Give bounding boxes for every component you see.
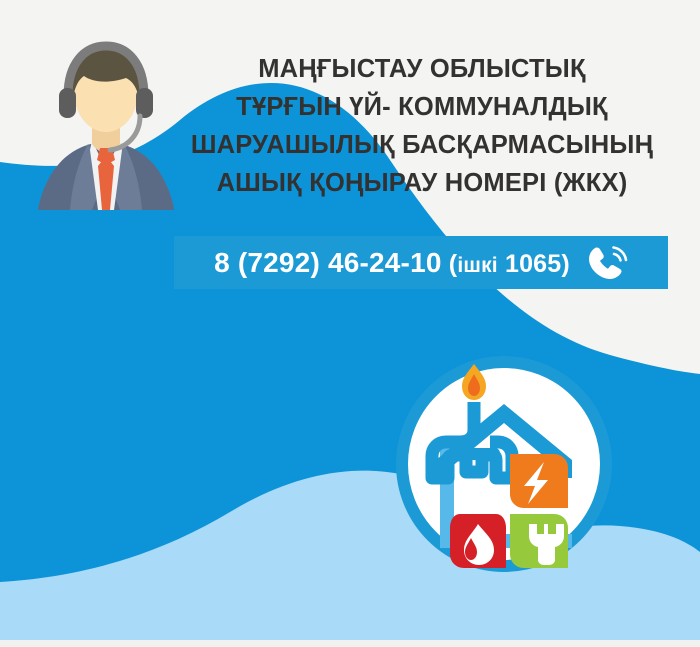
- bottom-edge-strip: [0, 640, 700, 647]
- phone-ext-paren-close: ): [561, 250, 570, 278]
- poster-canvas: МАҢҒЫСТАУ ОБЛЫСТЫҚ ТҰРҒЫН ҮЙ- КОММУНАЛДЫ…: [0, 0, 700, 647]
- phone-number-text: 8 (7292) 46-24-10 (ішкі 1065): [214, 247, 570, 279]
- avatar-headset-cup-right: [136, 88, 153, 118]
- avatar-headset-cup-left: [59, 88, 76, 118]
- headline-line-4: АШЫҚ ҚОҢЫРАУ НОМЕРІ (ЖКХ): [172, 164, 672, 202]
- phone-ext-number: 1065: [505, 250, 561, 278]
- headline-line-2: ТҰРҒЫН ҮЙ- КОММУНАЛДЫҚ: [172, 88, 672, 126]
- phone-banner[interactable]: 8 (7292) 46-24-10 (ішкі 1065): [174, 236, 668, 289]
- headline-line-1: МАҢҒЫСТАУ ОБЛЫСТЫҚ: [172, 50, 672, 88]
- phone-number-main: 8 (7292) 46-24-10: [214, 247, 442, 278]
- phone-ext-word: ішкі: [457, 254, 497, 277]
- phone-extension: (ішкі 1065): [442, 250, 570, 278]
- faucet-handle: [452, 448, 500, 460]
- utilities-house-emblem: [396, 356, 612, 572]
- page-title: МАҢҒЫСТАУ ОБЛЫСТЫҚ ТҰРҒЫН ҮЙ- КОММУНАЛДЫ…: [172, 50, 672, 202]
- avatar: [30, 24, 182, 210]
- headline-line-3: ШАРУАШЫЛЫҚ БАСҚАРМАСЫНЫҢ: [172, 126, 672, 164]
- phone-call-icon: [586, 243, 628, 283]
